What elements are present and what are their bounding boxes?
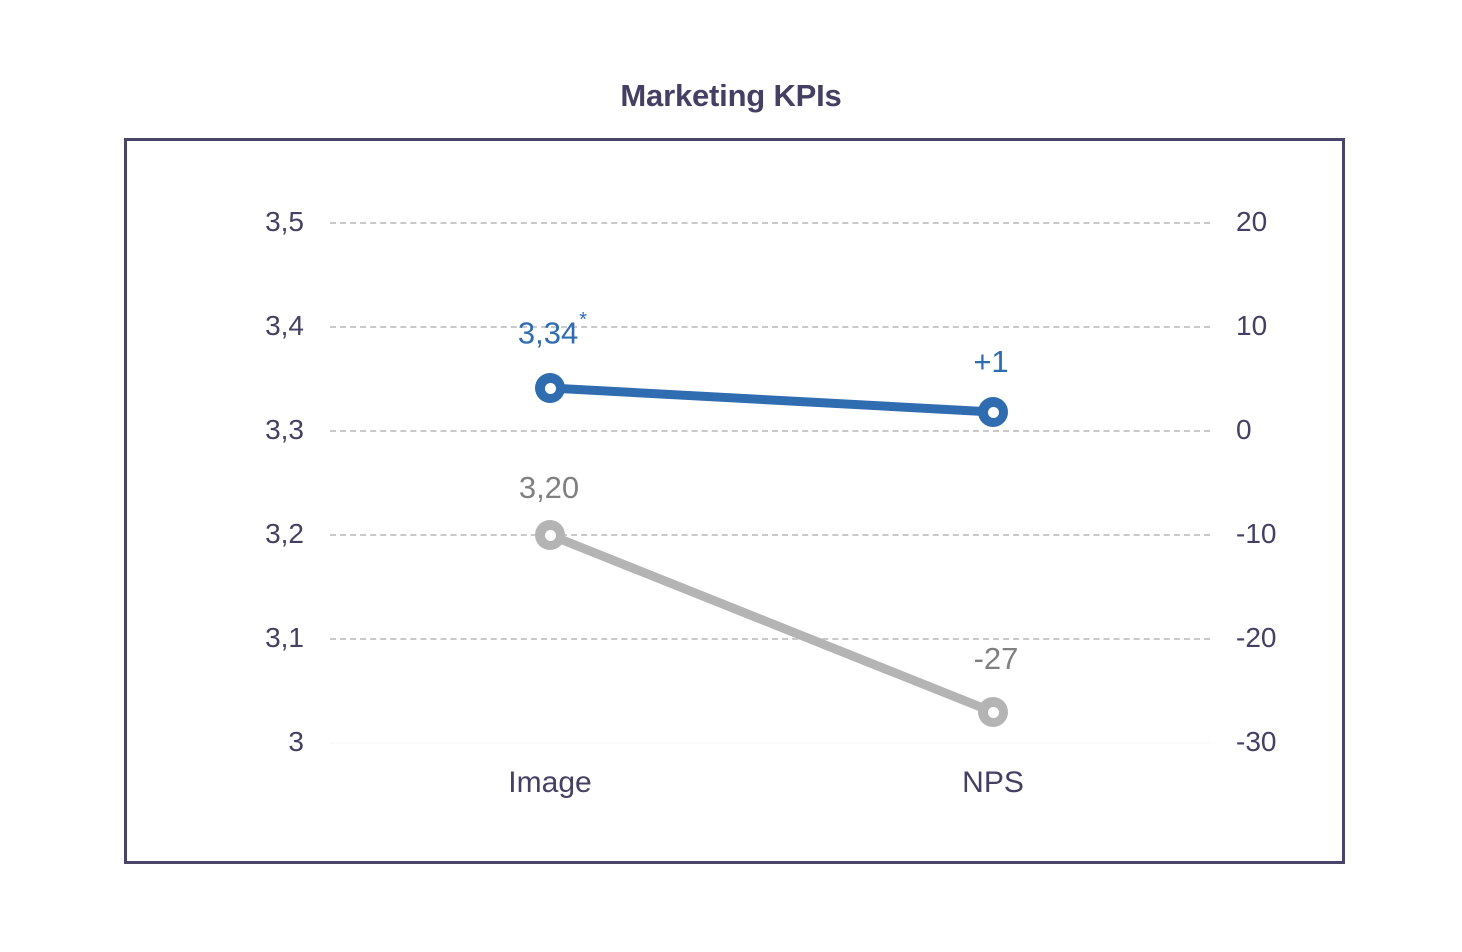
gridline-3-3 bbox=[330, 430, 1210, 432]
left-axis-tick-3-4: 3,4 bbox=[265, 312, 304, 340]
chart-root: Marketing KPIs 3,5 3,4 3,3 3,2 3,1 3 20 … bbox=[0, 0, 1462, 952]
right-axis-tick-m10: -10 bbox=[1236, 520, 1276, 548]
chart-title: Marketing KPIs bbox=[0, 78, 1462, 114]
data-point-nps-blue[interactable] bbox=[978, 397, 1008, 427]
left-axis-tick-3-1: 3,1 bbox=[265, 624, 304, 652]
right-axis-tick-20: 20 bbox=[1236, 208, 1267, 236]
left-axis-tick-3-5: 3,5 bbox=[265, 208, 304, 236]
gridline-3-2 bbox=[330, 534, 1210, 536]
right-axis-tick-m20: -20 bbox=[1236, 624, 1276, 652]
gridline-3-1 bbox=[330, 638, 1210, 640]
significance-asterisk: * bbox=[579, 309, 587, 331]
data-label-image-blue-value: 3,34 bbox=[518, 315, 578, 350]
left-axis-tick-3-3: 3,3 bbox=[265, 416, 304, 444]
data-point-nps-gray[interactable] bbox=[978, 697, 1008, 727]
data-label-nps-blue: +1 bbox=[973, 346, 1008, 377]
right-axis-tick-10: 10 bbox=[1236, 312, 1267, 340]
x-axis-label-nps: NPS bbox=[962, 766, 1024, 800]
gridline-3-5 bbox=[330, 222, 1210, 224]
left-axis-tick-3-0: 3 bbox=[288, 728, 304, 756]
plot-area-frame bbox=[124, 138, 1345, 864]
data-point-image-gray[interactable] bbox=[535, 520, 565, 550]
right-axis-tick-m30: -30 bbox=[1236, 728, 1276, 756]
data-label-image-blue: 3,34* bbox=[518, 316, 586, 348]
gridline-3-0 bbox=[330, 742, 1210, 744]
data-point-image-blue[interactable] bbox=[535, 373, 565, 403]
data-label-nps-gray: -27 bbox=[974, 643, 1019, 674]
gridline-3-4 bbox=[330, 326, 1210, 328]
right-axis-tick-0: 0 bbox=[1236, 416, 1252, 444]
data-label-image-gray: 3,20 bbox=[519, 472, 579, 503]
left-axis-tick-3-2: 3,2 bbox=[265, 520, 304, 548]
x-axis-label-image: Image bbox=[508, 766, 591, 800]
